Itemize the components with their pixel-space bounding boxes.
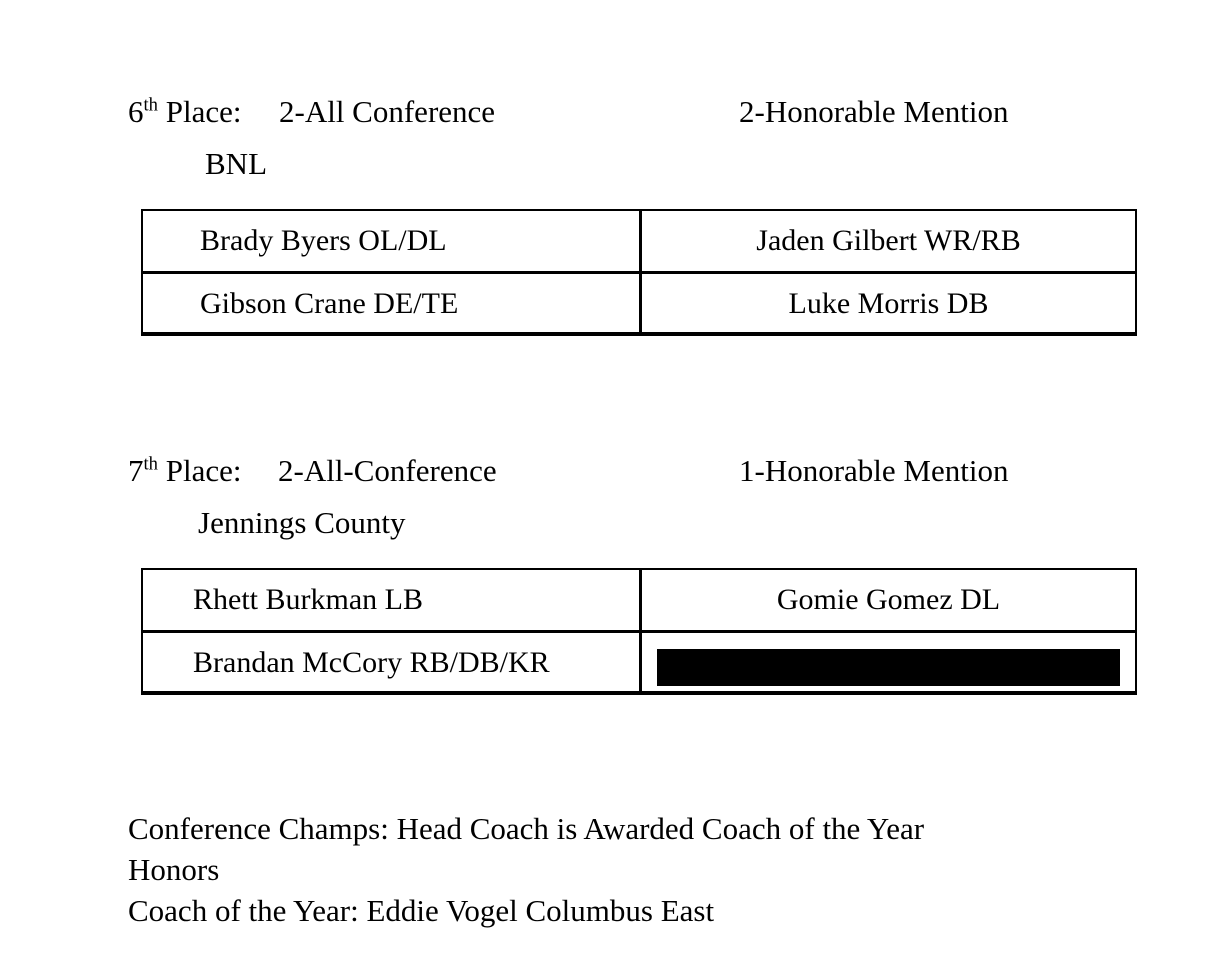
table-row: Brady Byers OL/DL Jaden Gilbert WR/RB [142,210,1136,272]
table-row: Rhett Burkman LB Gomie Gomez DL [142,569,1136,631]
table-cell-honorable-mention: Luke Morris DB [641,272,1137,334]
document-page: 6th Place: 2-All Conference 2-Honorable … [0,0,1230,961]
player-name: Rhett Burkman LB [143,570,639,617]
place-label: 7th Place: [128,451,241,491]
honors-line: Honors [128,849,1128,890]
all-conference-count-label: 2-All Conference [279,92,495,132]
place-number: 6 [128,94,144,129]
section-heading-row: 6th Place: 2-All Conference 2-Honorable … [0,92,1230,144]
awards-table-6th-place: Brady Byers OL/DL Jaden Gilbert WR/RB Gi… [141,209,1137,336]
section-7th-place: 7th Place: 2-All-Conference 1-Honorable … [0,451,1230,551]
player-name: Brandan McCory RB/DB/KR [143,633,639,680]
section-heading-row: 7th Place: 2-All-Conference 1-Honorable … [0,451,1230,503]
place-suffix: th [144,95,158,116]
footer-note: Conference Champs: Head Coach is Awarded… [128,808,1128,931]
table-row: Gibson Crane DE/TE Luke Morris DB [142,272,1136,334]
school-heading-row: BNL [0,144,1230,192]
conference-champs-line: Conference Champs: Head Coach is Awarded… [128,808,1128,849]
awards-table-7th-place: Rhett Burkman LB Gomie Gomez DL Brandan … [141,568,1137,695]
section-6th-place: 6th Place: 2-All Conference 2-Honorable … [0,92,1230,192]
table-cell-all-conference: Brady Byers OL/DL [142,210,641,272]
table-cell-all-conference: Brandan McCory RB/DB/KR [142,631,641,693]
table-cell-honorable-mention: Jaden Gilbert WR/RB [641,210,1137,272]
table-cell-honorable-mention: Gomie Gomez DL [641,569,1137,631]
place-number: 7 [128,453,144,488]
table-cell-all-conference: Gibson Crane DE/TE [142,272,641,334]
player-name: Jaden Gilbert WR/RB [642,211,1135,258]
all-conference-count-label: 2-All-Conference [278,451,497,491]
place-suffix: th [144,454,158,475]
table-row: Brandan McCory RB/DB/KR [142,631,1136,693]
place-word: Place: [166,453,242,488]
player-name: Luke Morris DB [642,274,1135,321]
player-name: Gibson Crane DE/TE [143,274,639,321]
school-name-label: BNL [205,144,267,184]
school-name-label: Jennings County [198,503,406,543]
place-word: Place: [166,94,242,129]
player-name: Gomie Gomez DL [642,570,1135,617]
redaction-bar [657,649,1120,686]
honorable-mention-count-label: 2-Honorable Mention [739,92,1008,132]
table-cell-all-conference: Rhett Burkman LB [142,569,641,631]
school-heading-row: Jennings County [0,503,1230,551]
coach-of-the-year-line: Coach of the Year: Eddie Vogel Columbus … [128,890,1128,931]
place-label: 6th Place: [128,92,241,132]
honorable-mention-count-label: 1-Honorable Mention [739,451,1008,491]
player-name: Brady Byers OL/DL [143,211,639,258]
table-cell-honorable-mention-redacted [641,631,1137,693]
